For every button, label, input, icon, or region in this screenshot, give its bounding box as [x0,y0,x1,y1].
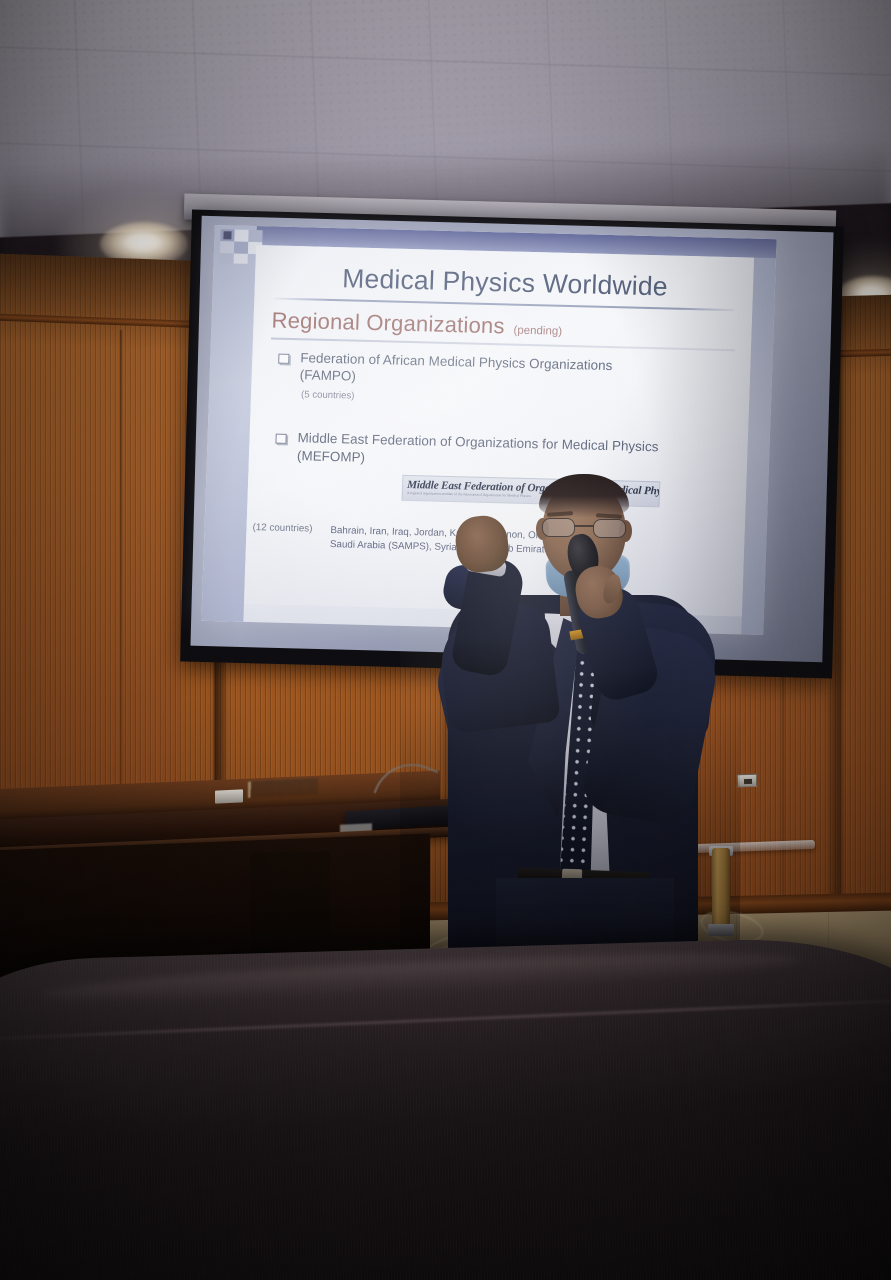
slide-section-note: (pending) [513,325,562,338]
speaker-figure [400,470,740,990]
slide-section-heading: Regional Organizations [271,307,505,339]
slide-bullet-fampo: Federation of African Medical Physics Or… [277,348,734,395]
countries-count-label: (12 countries) [252,522,313,552]
checkbox-bullet-icon [278,353,289,363]
bullet-mefomp-line2: (MEFOMP) [297,448,366,465]
speaker-hair [539,474,629,518]
bullet-text-fampo: Federation of African Medical Physics Or… [299,349,612,393]
conference-room-photo: Medical Physics Worldwide Regional Organ… [0,0,891,1280]
power-strip [215,789,243,803]
bullet-fampo-line2: (FAMPO) [300,368,357,384]
checkbox-bullet-icon [275,434,286,444]
